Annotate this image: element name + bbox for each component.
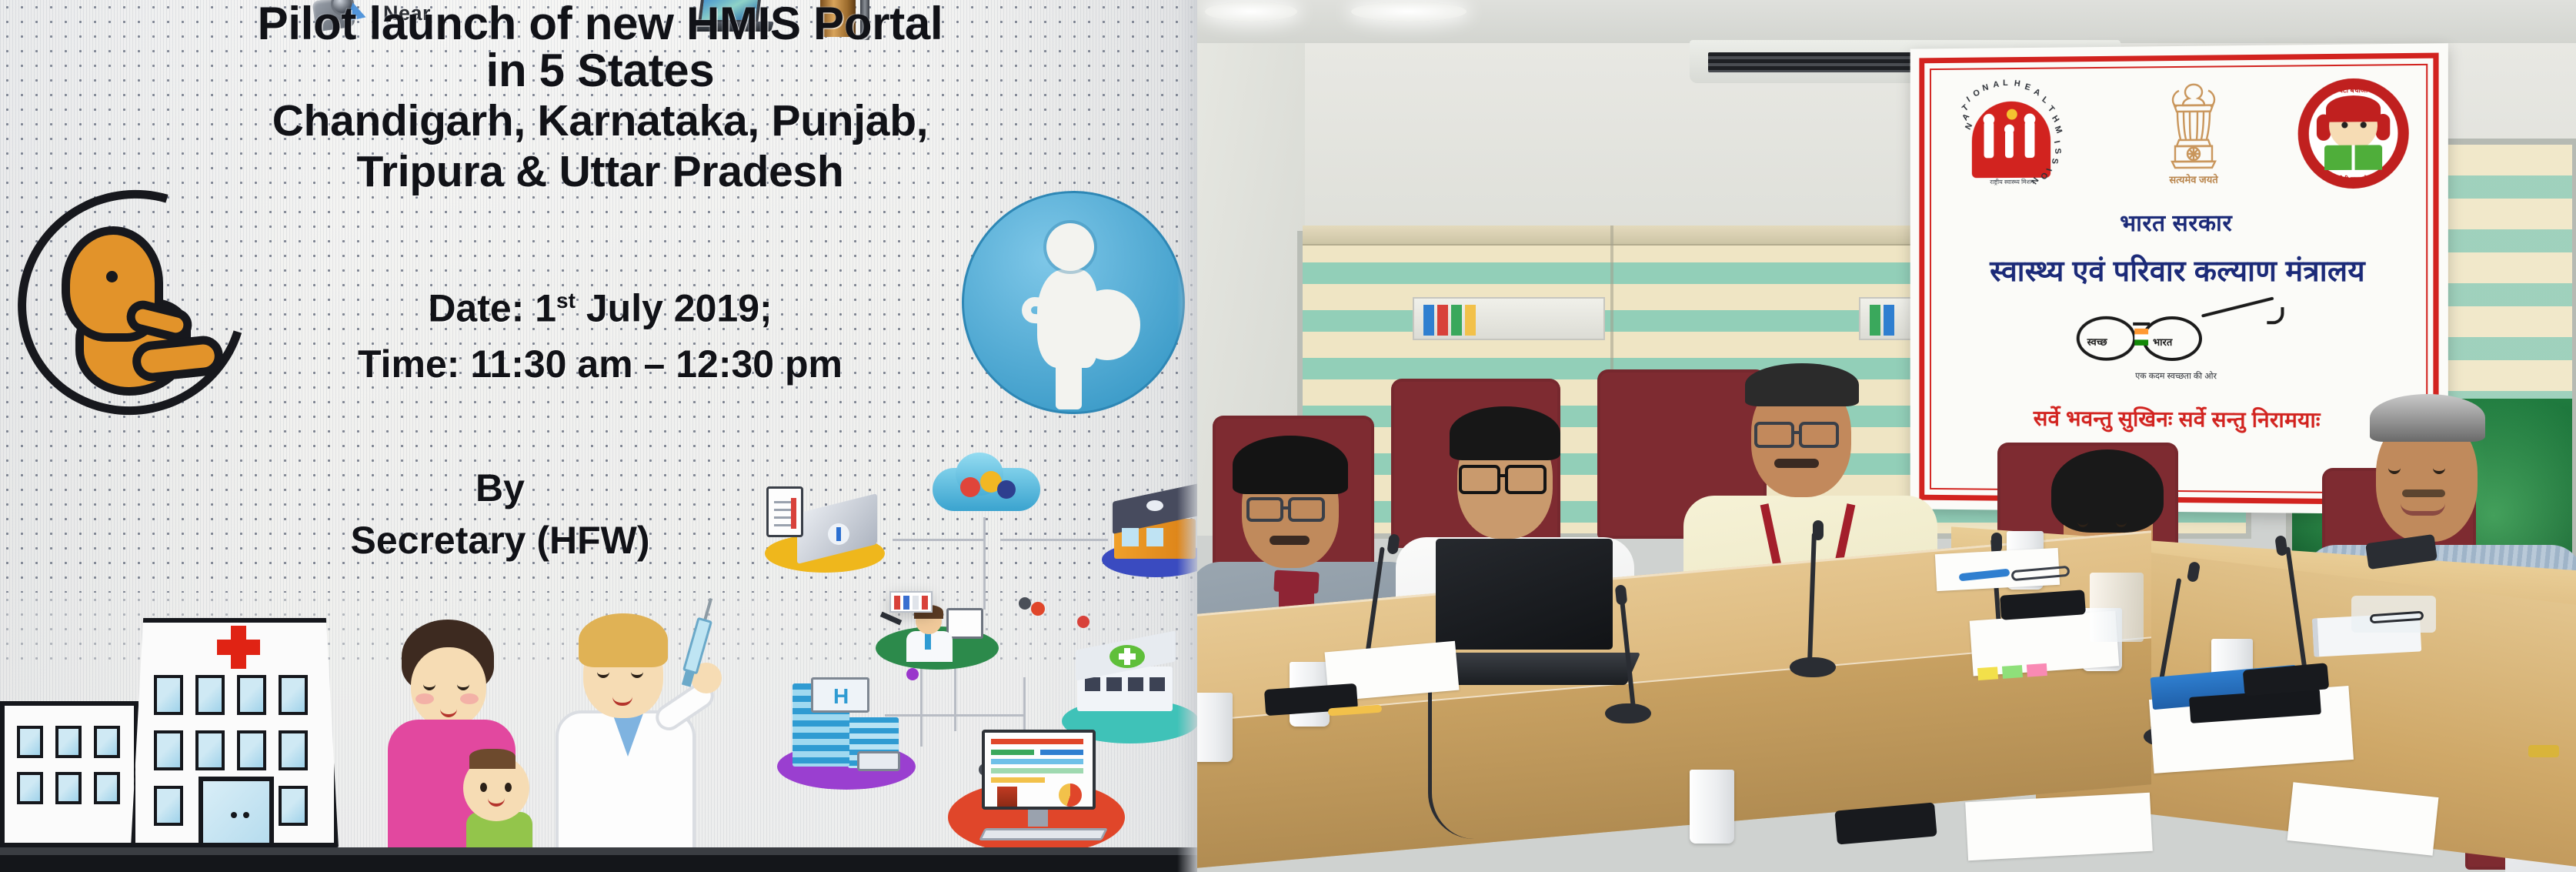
slide-event-meta: Date: 1st July 2019; Time: 11:30 am – 12…: [200, 273, 1000, 392]
laptop: [1436, 539, 1613, 685]
network-link: [893, 539, 985, 541]
slide-states-line1: Chandigarh, Karnataka, Punjab,: [123, 95, 1077, 146]
network-link: [1000, 539, 1108, 541]
slide-date-line: Date: 1st July 2019;: [200, 273, 1000, 336]
slide-title: Pilot launch of new HMIS Portal in 5 Sta…: [123, 2, 1077, 197]
emblem-motto: सत्यमेव जयते: [2144, 172, 2244, 187]
screen-right-edge: [1177, 0, 1197, 872]
wristwatch: [2528, 745, 2559, 757]
mother-and-baby-illustration: [362, 620, 562, 850]
red-cross-icon: [217, 626, 260, 669]
national-health-mission-logo: N A T I O N A L H E A L T: [1955, 81, 2069, 196]
laptop-cable: [1428, 677, 1520, 839]
dashboard-monitor-node: [948, 730, 1125, 860]
pregnant-woman-icon: [962, 191, 1185, 414]
screen-bezel-soft: [0, 847, 1197, 855]
doctor-record-node: [876, 591, 999, 676]
paper-cup: [1197, 693, 1233, 762]
medical-kit-node: [762, 485, 891, 577]
by-label: By: [231, 462, 769, 514]
background-shelf: [1413, 297, 1605, 340]
date-label: Date: 1: [428, 287, 556, 330]
ceiling-light: [1351, 2, 1467, 22]
ashoka-emblem-logo: सत्यमेव जयते: [2144, 79, 2244, 200]
ceiling-light: [1205, 2, 1297, 22]
hospital-door: [199, 777, 274, 847]
swachh-word-1: स्वच्छ: [2087, 335, 2107, 349]
water-glass: [2090, 573, 2144, 642]
hospital-side-building: [0, 701, 138, 847]
slide-title-line2: in 5 States: [123, 46, 1077, 95]
doctor-with-syringe-illustration: [539, 613, 731, 852]
projected-presentation-slide: Near Pilot launch of new HMIS Portal in …: [0, 0, 1197, 872]
cloud-services-node: [933, 451, 1040, 517]
documents: [1965, 793, 2153, 860]
banner-government-line: भारत सरकार: [1939, 205, 2418, 239]
slide-states-line2: Tripura & Uttar Pradesh: [123, 146, 1077, 197]
desk-microphone: [1790, 523, 1836, 677]
conference-room-photograph: N A T I O N A L H E A L T: [1197, 0, 2576, 872]
beti-top-text: बेटी बचाओ: [2298, 84, 2409, 95]
banner-ministry-line: स्वास्थ्य एवं परिवार कल्याण मंत्रालय: [1939, 250, 2418, 291]
screenshot-root: Near Pilot launch of new HMIS Portal in …: [0, 0, 2576, 872]
date-rest: July 2019;: [576, 287, 772, 330]
beti-bottom-text: बेटी पढ़ाओ: [2298, 174, 2409, 185]
screen-bezel: [0, 855, 1197, 872]
network-node-dot: [1077, 616, 1089, 628]
ashoka-lion-capital-icon: [2161, 79, 2227, 172]
beti-bachao-beti-padhao-logo: बेटी बचाओ बेटी पढ़ाओ: [2298, 78, 2409, 189]
banner-logo-row: N A T I O N A L H E A L T: [1939, 73, 2418, 193]
slide-presenter-block: By Secretary (HFW): [231, 462, 769, 566]
swachh-word-2: भारत: [2153, 335, 2172, 349]
date-ordinal: st: [556, 289, 576, 312]
fetus-icon: [17, 191, 248, 414]
slide-title-line1: Pilot launch of new HMIS Portal: [123, 2, 1077, 46]
network-node-dot: [1031, 602, 1045, 616]
paper-cup: [1690, 770, 1734, 844]
desk-microphone: [1605, 585, 1651, 723]
slide-time-line: Time: 11:30 am – 12:30 pm: [200, 336, 1000, 392]
nhm-subtext: राष्ट्रीय स्वास्थ्य मिशन: [1955, 178, 2069, 187]
hospital-tower-node: H: [777, 677, 916, 793]
network-node-dot: [1019, 597, 1031, 610]
swachh-tagline: एक कदम स्वच्छता की ओर: [1939, 369, 2418, 383]
presenter-name: Secretary (HFW): [231, 514, 769, 566]
